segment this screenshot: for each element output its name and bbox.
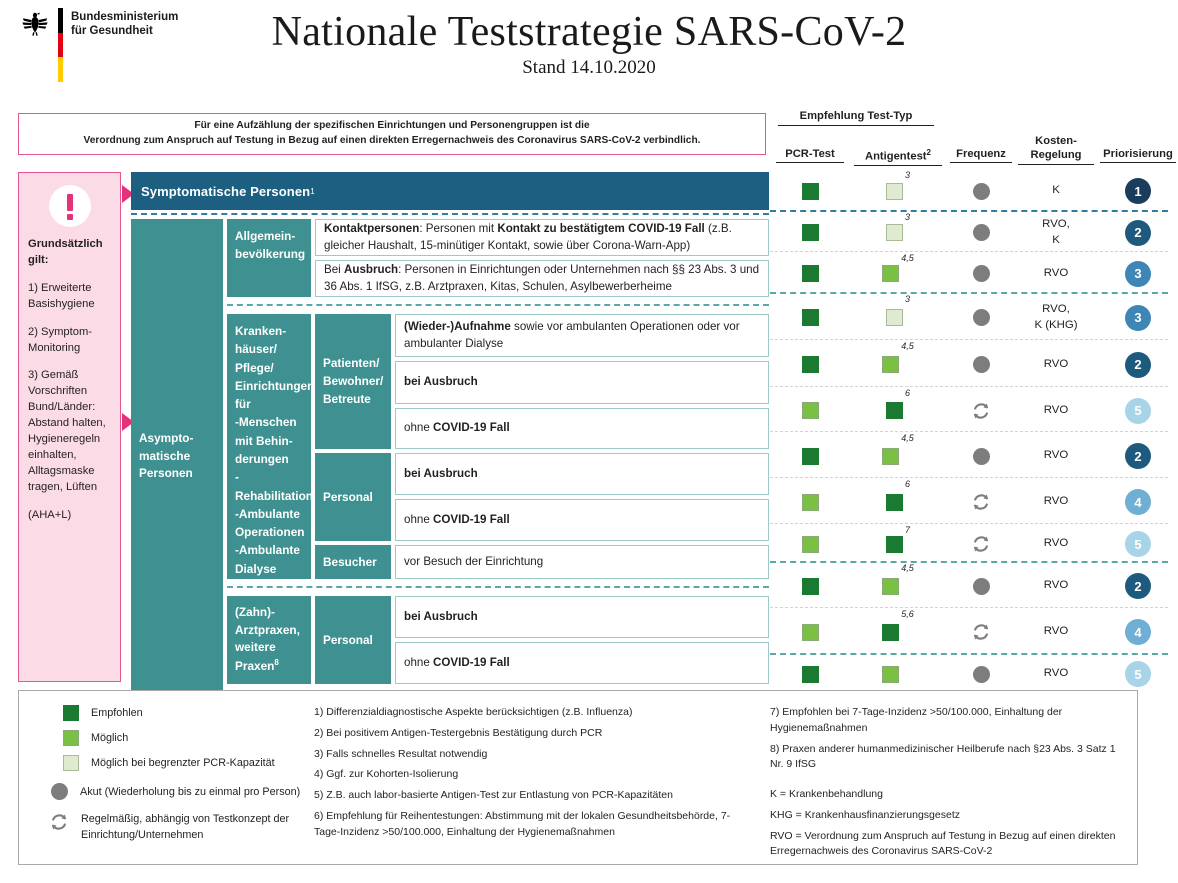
antigen-footnote-ref: 3 <box>905 212 910 222</box>
indicator-row-symptomatische: 3K1 <box>770 172 1168 210</box>
akut-dot-icon <box>973 224 990 241</box>
row-ausbruch-allgemein: Bei Ausbruch: Personen in Einrichtungen … <box>315 260 769 297</box>
symptomatische-label: Symptomatische Personen <box>141 184 310 199</box>
antigen-swatch-icon <box>882 624 899 641</box>
indicator-row-praxis-ohne-fall: 5,6RVO4 <box>770 611 1168 653</box>
legend-footnotes-left: 1) Differenzialdiagnostische Aspekte ber… <box>304 691 754 864</box>
pers-ausbruch: bei Ausbruch <box>404 466 478 482</box>
cell-frequenz <box>950 390 1012 431</box>
antigen-footnote-ref: 6 <box>905 479 910 489</box>
antigen-footnote-ref: 4,5 <box>901 341 914 351</box>
legend-panel: Empfohlen Möglich Möglich bei begrenzter… <box>18 690 1138 865</box>
antigen-footnote-ref: 6 <box>905 388 910 398</box>
cell-kosten: RVO <box>1018 611 1094 653</box>
row-symptomatische-personen: Symptomatische Personen 1 <box>131 172 769 210</box>
column-group-test-type: Empfehlung Test-Typ <box>778 110 934 126</box>
cell-pcr <box>776 435 844 477</box>
antigen-footnote-ref: 7 <box>905 525 910 535</box>
cell-priorisierung: 3 <box>1100 255 1176 292</box>
legend-symbols: Empfohlen Möglich Möglich bei begrenzter… <box>19 691 304 864</box>
pat-ausbruch: bei Ausbruch <box>404 374 478 390</box>
kosten-value: RVO <box>1044 578 1068 593</box>
priority-badge: 2 <box>1125 573 1151 599</box>
legend-label-regelmaessig: Regelmäßig, abhängig von Testkonzept der… <box>81 812 304 843</box>
page-header: Bundesministerium für Gesundheit Nationa… <box>0 0 1178 100</box>
legend-label-akut: Akut (Wiederholung bis zu einmal pro Per… <box>80 786 300 798</box>
cell-antigen: 6 <box>854 481 942 523</box>
footnote-1: 1) Differenzialdiagnostische Aspekte ber… <box>314 705 744 721</box>
antigen-swatch-icon <box>886 494 903 511</box>
cell-kosten: RVO <box>1018 255 1094 292</box>
recycle-arrows-icon <box>971 622 991 642</box>
kosten-value: K <box>1052 183 1060 198</box>
indicator-columns: 3K13RVO,K24,5RVO33RVO,K (KHG)34,5RVO26RV… <box>770 172 1168 691</box>
cell-pcr <box>776 255 844 292</box>
antigen-swatch-icon <box>882 356 899 373</box>
row-besucher: vor Besuch der Einrichtung <box>395 545 769 579</box>
antigen-footnote-ref: 4,5 <box>901 253 914 263</box>
pers-pre: ohne <box>404 513 433 526</box>
asymptomatische-label: Asympto-matischePersonen <box>139 430 193 483</box>
kosten-value: RVO <box>1044 357 1068 372</box>
label-personal-klinik: Personal <box>315 453 391 541</box>
pcr-swatch-icon <box>802 578 819 595</box>
kosten-value: RVO <box>1044 666 1068 681</box>
pcr-swatch-icon <box>802 494 819 511</box>
subgroup-personal-klinik: Personal bei Ausbruch ohne COVID-19 Fall <box>315 453 769 541</box>
antigen-footnote-ref: 3 <box>905 294 910 304</box>
cell-priorisierung: 5 <box>1100 657 1176 691</box>
footnote-2: 2) Bei positivem Antigen-Testergebnis Be… <box>314 726 744 742</box>
ministry-line-1: Bundesministerium <box>71 10 178 24</box>
antigen-swatch-icon <box>886 183 903 200</box>
cell-pcr <box>776 481 844 523</box>
cell-kosten: RVO,K <box>1018 214 1094 251</box>
kosten-value: RVO <box>1044 448 1068 463</box>
cell-antigen: 7 <box>854 527 942 561</box>
label-arztpraxen: (Zahn)-Arztpraxen, weitere Praxen8 <box>227 596 311 684</box>
asymptomatische-block: Asympto-matischePersonen Allgemein-bevöl… <box>131 219 769 735</box>
besucher-text: vor Besuch der Einrichtung <box>404 554 543 570</box>
cell-priorisierung: 2 <box>1100 214 1176 251</box>
group-asymptomatische-personen: Asympto-matischePersonen <box>131 219 223 693</box>
indicator-row-patienten-ohne-fall: 6RVO5 <box>770 390 1168 431</box>
cell-priorisierung: 2 <box>1100 435 1176 477</box>
pcr-swatch-icon <box>802 309 819 326</box>
ministry-line-2: für Gesundheit <box>71 24 178 38</box>
subgroup-krankenhaeuser: Kranken-häuser/Pflege/Einrichtungen für … <box>227 314 769 579</box>
row-patienten-ohne-fall: ohne COVID-19 Fall <box>395 408 769 449</box>
antigen-swatch-icon <box>882 448 899 465</box>
column-header-priorisierung: Priorisierung <box>1100 148 1176 163</box>
kosten-value: RVO <box>1044 624 1068 639</box>
priority-badge: 2 <box>1125 352 1151 378</box>
kosten-value: RVO <box>1044 266 1068 281</box>
akut-dot-icon <box>973 356 990 373</box>
cell-antigen: 4,5 <box>854 343 942 386</box>
cell-frequenz <box>950 657 1012 691</box>
cell-frequenz <box>950 343 1012 386</box>
akut-dot-icon <box>973 448 990 465</box>
indicator-row-kontaktpersonen: 3RVO,K2 <box>770 214 1168 251</box>
label-besucher: Besucher <box>315 545 391 579</box>
column-header-antigen-sup: 2 <box>927 148 931 157</box>
cell-antigen: 3 <box>854 172 942 210</box>
note-line-1: Für eine Aufzählung der spezifischen Ein… <box>194 120 589 131</box>
indicator-row-personal-ausbruch: 4,5RVO2 <box>770 435 1168 477</box>
cell-frequenz <box>950 565 1012 607</box>
pat-bold: COVID-19 Fall <box>433 421 510 434</box>
besucher-label: Besucher <box>323 554 377 572</box>
ausbr-pre: Bei <box>324 263 344 276</box>
footnote-7: 7) Empfohlen bei 7-Tage-Inzidenz >50/100… <box>770 705 1121 737</box>
cell-frequenz <box>950 435 1012 477</box>
cell-priorisierung: 2 <box>1100 565 1176 607</box>
cell-pcr <box>776 657 844 691</box>
cell-kosten: RVO <box>1018 565 1094 607</box>
antigen-footnote-ref: 4,5 <box>901 563 914 573</box>
cell-kosten: RVO <box>1018 390 1094 431</box>
abbreviation-khg: KHG = Krankenhausfinanzierungsgesetz <box>770 808 1121 824</box>
kosten-value: RVO <box>1044 494 1068 509</box>
label-personal-praxis: Personal <box>315 596 391 684</box>
kontakt-rest: : Personen mit <box>419 222 497 235</box>
cell-pcr <box>776 565 844 607</box>
cell-frequenz <box>950 172 1012 210</box>
indicator-row-ausbruch-allgemein: 4,5RVO3 <box>770 255 1168 292</box>
note-box: Für eine Aufzählung der spezifischen Ein… <box>18 113 766 155</box>
row-patienten-ausbruch: bei Ausbruch <box>395 361 769 404</box>
indicator-row-einreisende: RVO5 <box>770 657 1168 691</box>
cell-kosten: K <box>1018 172 1094 210</box>
pcr-swatch-icon <box>802 183 819 200</box>
priority-badge: 4 <box>1125 489 1151 515</box>
subgroup-arztpraxen: (Zahn)-Arztpraxen, weitere Praxen8 Perso… <box>227 596 769 684</box>
kontakt-bold2: Kontakt zu bestätigtem COVID-19 Fall <box>497 222 704 235</box>
recycle-arrows-icon <box>971 534 991 554</box>
cell-frequenz <box>950 255 1012 292</box>
kosten-value: RVO,K (KHG) <box>1034 302 1077 333</box>
label-krankenhaeuser: Kranken-häuser/Pflege/Einrichtungen für … <box>227 314 311 579</box>
cell-pcr <box>776 172 844 210</box>
cell-antigen: 4,5 <box>854 565 942 607</box>
legend-item-empfohlen: Empfohlen <box>59 705 304 721</box>
recycle-arrows-icon <box>971 492 991 512</box>
cell-antigen: 5,6 <box>854 611 942 653</box>
green-mid-swatch-icon <box>63 730 79 746</box>
green-dark-swatch-icon <box>63 705 79 721</box>
sidebar-item-3: (AHA+L) <box>28 508 111 524</box>
antigen-footnote-ref: 5,6 <box>901 609 914 619</box>
personal-label: Personal <box>323 489 373 507</box>
legend-item-akut: Akut (Wiederholung bis zu einmal pro Per… <box>51 783 304 800</box>
ausbr-bold: Ausbruch <box>344 263 398 276</box>
pers-bold: COVID-19 Fall <box>433 513 510 526</box>
pcr-swatch-icon <box>802 666 819 683</box>
legend-label-empfohlen: Empfohlen <box>91 707 143 719</box>
cell-kosten: RVO <box>1018 343 1094 386</box>
federal-eagle-icon <box>20 8 50 38</box>
pcr-swatch-icon <box>802 624 819 641</box>
cell-priorisierung: 1 <box>1100 172 1176 210</box>
cell-frequenz <box>950 214 1012 251</box>
priority-badge: 5 <box>1125 398 1151 424</box>
cell-frequenz <box>950 481 1012 523</box>
ministry-name: Bundesministerium für Gesundheit <box>71 8 178 82</box>
abbreviation-k: K = Krankenbehandlung <box>770 787 1121 803</box>
column-header-pcr: PCR-Test <box>776 148 844 163</box>
gray-dot-icon <box>51 783 68 800</box>
row-personal-ohne-fall: ohne COVID-19 Fall <box>395 499 769 541</box>
legend-item-regelmaessig: Regelmäßig, abhängig von Testkonzept der… <box>49 812 304 843</box>
footnote-3: 3) Falls schnelles Resultat notwendig <box>314 747 744 763</box>
separator-major-1 <box>131 213 769 215</box>
sidebar-title: Grundsätzlich gilt: <box>28 237 111 269</box>
antigen-swatch-icon <box>886 536 903 553</box>
legend-label-moeglich: Möglich <box>91 732 128 744</box>
wieder-bold: (Wieder-)Aufnahme <box>404 320 511 333</box>
exclamation-icon <box>49 185 91 227</box>
cell-antigen: 3 <box>854 214 942 251</box>
indicator-row-personal-ohne-fall: 6RVO4 <box>770 481 1168 523</box>
cell-antigen: 4,5 <box>854 255 942 292</box>
cell-priorisierung: 3 <box>1100 296 1176 339</box>
column-header-kosten: Kosten- Regelung <box>1018 134 1094 165</box>
column-header-frequenz: Frequenz <box>950 148 1012 163</box>
priority-badge: 3 <box>1125 305 1151 331</box>
subgroup-besucher: Besucher vor Besuch der Einrichtung <box>315 545 769 579</box>
pcr-swatch-icon <box>802 536 819 553</box>
row-praxis-ausbruch: bei Ausbruch <box>395 596 769 638</box>
priority-badge: 4 <box>1125 619 1151 645</box>
antigen-swatch-icon <box>882 666 899 683</box>
cell-pcr <box>776 527 844 561</box>
kosten-value: RVO <box>1044 536 1068 551</box>
cell-priorisierung: 5 <box>1100 390 1176 431</box>
footnote-4: 4) Ggf. zur Kohorten-Isolierung <box>314 767 744 783</box>
priority-badge: 5 <box>1125 661 1151 687</box>
green-light-swatch-icon <box>63 755 79 771</box>
akut-dot-icon <box>973 183 990 200</box>
pcr-swatch-icon <box>802 448 819 465</box>
personal-praxis-label: Personal <box>323 632 373 650</box>
subgroup-allgemeinbevoelkerung: Allgemein-bevölkerung(exponiert) Kontakt… <box>227 219 769 297</box>
cell-pcr <box>776 214 844 251</box>
kosten-value: RVO <box>1044 403 1068 418</box>
cell-pcr <box>776 611 844 653</box>
akut-dot-icon <box>973 578 990 595</box>
legend-footnotes-right: 7) Empfohlen bei 7-Tage-Inzidenz >50/100… <box>754 691 1137 864</box>
praxis-bold: COVID-19 Fall <box>433 656 510 669</box>
abbreviation-rvo: RVO = Verordnung zum Anspruch auf Testun… <box>770 829 1121 861</box>
cell-antigen: 3 <box>854 296 942 339</box>
sidebar-item-1: 2) Symptom-Monitoring <box>28 325 111 357</box>
pcr-swatch-icon <box>802 402 819 419</box>
indicator-row-patienten-ausbruch: 4,5RVO2 <box>770 343 1168 386</box>
pcr-swatch-icon <box>802 356 819 373</box>
sidebar-item-0: 1) Erweiterte Basishygiene <box>28 281 111 313</box>
sidebar-item-2: 3) Gemäß Vorschriften Bund/Länder: Absta… <box>28 368 111 495</box>
antigen-footnote-ref: 3 <box>905 170 910 180</box>
priority-badge: 2 <box>1125 443 1151 469</box>
indicator-row-praxis-ausbruch: 4,5RVO2 <box>770 565 1168 607</box>
recycle-arrows-icon <box>49 812 69 832</box>
cell-pcr <box>776 390 844 431</box>
separator-major-2 <box>227 304 769 306</box>
cell-kosten: RVO <box>1018 481 1094 523</box>
antigen-footnote-ref: 4,5 <box>901 433 914 443</box>
ministry-logo: Bundesministerium für Gesundheit <box>20 8 178 82</box>
praxis-pre: ohne <box>404 656 433 669</box>
cell-priorisierung: 2 <box>1100 343 1176 386</box>
priority-badge: 5 <box>1125 531 1151 557</box>
legend-item-moeglich-begrenzt: Möglich bei begrenzter PCR-Kapazität <box>59 755 304 771</box>
note-line-2: Verordnung zum Anspruch auf Testung in B… <box>83 135 700 146</box>
general-rules-sidebar: Grundsätzlich gilt: 1) Erweiterte Basish… <box>18 172 121 682</box>
kosten-value: RVO,K <box>1042 217 1070 248</box>
cell-priorisierung: 4 <box>1100 611 1176 653</box>
akut-dot-icon <box>973 666 990 683</box>
antigen-swatch-icon <box>886 224 903 241</box>
column-header-antigen: Antigentest2 <box>854 148 942 166</box>
priority-badge: 2 <box>1125 220 1151 246</box>
row-wiederaufnahme: (Wieder-)Aufnahme sowie vor ambulanten O… <box>395 314 769 357</box>
pcr-swatch-icon <box>802 224 819 241</box>
antigen-swatch-icon <box>886 402 903 419</box>
cell-antigen: 4,5 <box>854 435 942 477</box>
german-flag-bar <box>58 8 63 82</box>
pcr-swatch-icon <box>802 265 819 282</box>
cell-priorisierung: 4 <box>1100 481 1176 523</box>
legend-item-moeglich: Möglich <box>59 730 304 746</box>
strategy-grid: Symptomatische Personen 1 Asympto-matisc… <box>131 172 769 735</box>
cell-kosten: RVO <box>1018 435 1094 477</box>
footnote-8: 8) Praxen anderer humanmedizinischer Hei… <box>770 742 1121 774</box>
praxis-ausbruch: bei Ausbruch <box>404 609 478 625</box>
akut-dot-icon <box>973 309 990 326</box>
row-kontaktpersonen: Kontaktpersonen: Personen mit Kontakt zu… <box>315 219 769 256</box>
cell-pcr <box>776 296 844 339</box>
antigen-swatch-icon <box>882 578 899 595</box>
priority-badge: 3 <box>1125 261 1151 287</box>
label-allgemeinbevoelkerung: Allgemein-bevölkerung(exponiert) <box>227 219 311 297</box>
column-headers: Empfehlung Test-Typ PCR-Test Antigentest… <box>770 110 1168 172</box>
cell-kosten: RVO,K (KHG) <box>1018 296 1094 339</box>
cell-antigen <box>854 657 942 691</box>
cell-antigen: 6 <box>854 390 942 431</box>
cell-pcr <box>776 343 844 386</box>
label-patienten: Patienten/Bewohner/Betreute <box>315 314 391 449</box>
pat-pre: ohne <box>404 421 433 434</box>
cell-priorisierung: 5 <box>1100 527 1176 561</box>
subgroup-patienten: Patienten/Bewohner/Betreute (Wieder-)Auf… <box>315 314 769 449</box>
antigen-swatch-icon <box>882 265 899 282</box>
kontakt-bold: Kontaktpersonen <box>324 222 419 235</box>
recycle-arrows-icon <box>971 401 991 421</box>
antigen-swatch-icon <box>886 309 903 326</box>
cell-frequenz <box>950 611 1012 653</box>
kosten-line-1: Kosten- <box>1035 135 1077 147</box>
indicator-row-besucher: 7RVO5 <box>770 527 1168 561</box>
separator-major-3 <box>227 586 769 588</box>
akut-dot-icon <box>973 265 990 282</box>
cell-kosten: RVO <box>1018 657 1094 691</box>
column-header-antigen-label: Antigentest <box>865 151 927 163</box>
row-praxis-ohne-fall: ohne COVID-19 Fall <box>395 642 769 684</box>
footnote-5: 5) Z.B. auch labor-basierte Antigen-Test… <box>314 788 744 804</box>
row-personal-ausbruch: bei Ausbruch <box>395 453 769 495</box>
legend-label-moeglich-begrenzt: Möglich bei begrenzter PCR-Kapazität <box>91 757 275 769</box>
cell-frequenz <box>950 527 1012 561</box>
priority-badge: 1 <box>1125 178 1151 204</box>
indicator-row-wiederaufnahme: 3RVO,K (KHG)3 <box>770 296 1168 339</box>
symptomatische-sup: 1 <box>310 187 315 196</box>
kosten-line-2: Regelung <box>1031 149 1082 161</box>
footnote-6: 6) Empfehlung für Reihentestungen: Absti… <box>314 809 744 841</box>
cell-frequenz <box>950 296 1012 339</box>
cell-kosten: RVO <box>1018 527 1094 561</box>
